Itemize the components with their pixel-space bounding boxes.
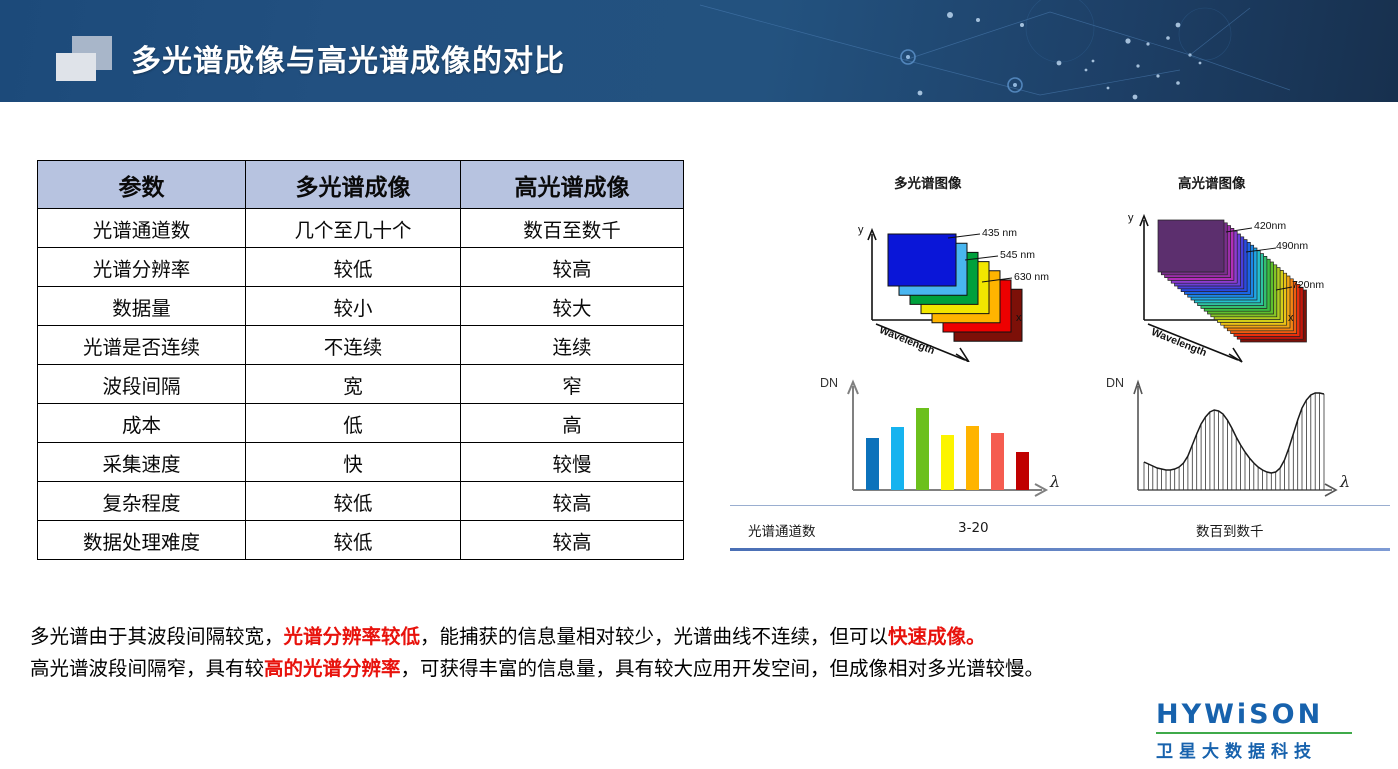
line-chart-y-label: DN	[1106, 376, 1124, 390]
table-cell-param: 光谱通道数	[38, 209, 246, 248]
table-row: 数据量较小较大	[38, 287, 684, 326]
column-header-param: 参数	[38, 161, 246, 209]
bar	[941, 435, 954, 490]
table-cell-param: 数据量	[38, 287, 246, 326]
table-row: 光谱通道数几个至几十个数百至数千	[38, 209, 684, 248]
table-cell-multispectral: 较低	[246, 482, 461, 521]
bar	[916, 408, 929, 490]
two-squares-icon	[56, 36, 112, 76]
table-cell-hyperspectral: 高	[461, 404, 684, 443]
logo-subtitle: 卫星大数据科技	[1156, 737, 1388, 762]
summary-paragraph: 多光谱由于其波段间隔较宽，光谱分辨率较低，能捕获的信息量相对较少，光谱曲线不连续…	[30, 621, 1370, 685]
summary-line1-part-a: 多光谱由于其波段间隔较宽，	[30, 625, 284, 648]
multispectral-x-axis-label: x	[1016, 312, 1022, 324]
hyperspectral-diagram-title: 高光谱图像	[1178, 172, 1246, 192]
bar-chart-x-label: λ	[1050, 472, 1060, 491]
table-cell-multispectral: 几个至几十个	[246, 209, 461, 248]
logo-divider	[1156, 732, 1352, 734]
multispectral-diagram-title: 多光谱图像	[894, 172, 962, 192]
panel-divider-top	[730, 505, 1390, 506]
channel-count-row: 光谱通道数 3-20 数百到数千	[730, 512, 1390, 546]
summary-line2-part-a: 高光谱波段间隔窄，具有较	[30, 657, 264, 680]
table-cell-hyperspectral: 较高	[461, 482, 684, 521]
table-cell-multispectral: 较小	[246, 287, 461, 326]
summary-line1-highlight-1: 光谱分辨率较低	[284, 625, 421, 648]
table-row: 光谱分辨率较低较高	[38, 248, 684, 287]
table-header-row: 参数 多光谱成像 高光谱成像	[38, 161, 684, 209]
hyperspectral-band-label-420: 420nm	[1254, 220, 1286, 232]
channel-row-label: 光谱通道数	[748, 520, 816, 540]
multispectral-cube-diagram: y x 435 nm 545 nm 630 nm Wavelength	[830, 212, 1130, 362]
table-cell-multispectral: 低	[246, 404, 461, 443]
table-cell-param: 光谱分辨率	[38, 248, 246, 287]
table-cell-param: 数据处理难度	[38, 521, 246, 560]
bar	[891, 427, 904, 490]
table-cell-multispectral: 宽	[246, 365, 461, 404]
table-cell-multispectral: 不连续	[246, 326, 461, 365]
table-cell-hyperspectral: 数百至数千	[461, 209, 684, 248]
hyperspectral-band-label-720: 720nm	[1292, 279, 1324, 291]
hyperspectral-band-label-490: 490nm	[1276, 240, 1308, 252]
multispectral-band-label-435: 435 nm	[982, 227, 1017, 239]
multispectral-bar-chart: DN λ	[820, 372, 1080, 502]
hyperspectral-y-axis-label: y	[1128, 212, 1134, 224]
line-chart-x-label: λ	[1340, 472, 1350, 491]
channel-row-multispectral-value: 3-20	[958, 520, 989, 536]
bar	[991, 433, 1004, 490]
table-row: 采集速度快较慢	[38, 443, 684, 482]
page-title: 多光谱成像与高光谱成像的对比	[131, 36, 565, 80]
table-cell-param: 光谱是否连续	[38, 326, 246, 365]
table-cell-multispectral: 快	[246, 443, 461, 482]
table-row: 数据处理难度较低较高	[38, 521, 684, 560]
hyperspectral-cube-diagram: y x 420nm 490nm 720nm Wavelength	[1086, 208, 1386, 363]
panel-divider-bottom	[730, 548, 1390, 551]
table-cell-param: 复杂程度	[38, 482, 246, 521]
summary-line-1: 多光谱由于其波段间隔较宽，光谱分辨率较低，能捕获的信息量相对较少，光谱曲线不连续…	[30, 621, 1370, 653]
summary-line1-part-b: ，能捕获的信息量相对较少，光谱曲线不连续，但可以	[420, 625, 888, 648]
channel-row-hyperspectral-value: 数百到数千	[1196, 520, 1264, 540]
company-logo: HYWiSON 卫星大数据科技	[1156, 700, 1388, 762]
summary-line-2: 高光谱波段间隔窄，具有较高的光谱分辨率，可获得丰富的信息量，具有较大应用开发空间…	[30, 653, 1370, 685]
right-illustration-panel: 多光谱图像 y x 435 nm 545 nm 630 nm Wavelengt…	[730, 160, 1390, 560]
summary-line1-highlight-2: 快速成像。	[888, 625, 986, 648]
summary-line2-part-b: ，可获得丰富的信息量，具有较大应用开发空间，但成像相对多光谱较慢。	[401, 657, 1045, 680]
summary-line2-highlight: 高的光谱分辨率	[264, 657, 401, 680]
hyperspectral-line-chart: DN λ	[1110, 372, 1370, 502]
logo-wordmark: HYWiSON	[1156, 700, 1388, 730]
column-header-hyperspectral: 高光谱成像	[461, 161, 684, 209]
table-row: 光谱是否连续不连续连续	[38, 326, 684, 365]
bar	[866, 438, 879, 490]
table-cell-hyperspectral: 连续	[461, 326, 684, 365]
table-cell-multispectral: 较低	[246, 521, 461, 560]
table-cell-param: 采集速度	[38, 443, 246, 482]
logo-brand-text: HYWiSON	[1156, 700, 1323, 730]
table-cell-multispectral: 较低	[246, 248, 461, 287]
table-row: 复杂程度较低较高	[38, 482, 684, 521]
multispectral-y-axis-label: y	[858, 224, 864, 236]
table-cell-param: 波段间隔	[38, 365, 246, 404]
bar-chart-y-label: DN	[820, 376, 838, 390]
table-cell-hyperspectral: 较高	[461, 521, 684, 560]
page-header: 多光谱成像与高光谱成像的对比	[0, 0, 1398, 102]
multispectral-band-label-630: 630 nm	[1014, 271, 1049, 283]
multispectral-band-label-545: 545 nm	[1000, 249, 1035, 261]
bar	[1016, 452, 1029, 490]
table-cell-hyperspectral: 较慢	[461, 443, 684, 482]
table-cell-hyperspectral: 较大	[461, 287, 684, 326]
hyperspectral-x-axis-label: x	[1288, 312, 1294, 324]
table-row: 波段间隔宽窄	[38, 365, 684, 404]
table-row: 成本低高	[38, 404, 684, 443]
table-cell-param: 成本	[38, 404, 246, 443]
table-cell-hyperspectral: 窄	[461, 365, 684, 404]
bar	[966, 426, 979, 490]
table-cell-hyperspectral: 较高	[461, 248, 684, 287]
comparison-table: 参数 多光谱成像 高光谱成像 光谱通道数几个至几十个数百至数千光谱分辨率较低较高…	[37, 160, 684, 560]
column-header-multispectral: 多光谱成像	[246, 161, 461, 209]
